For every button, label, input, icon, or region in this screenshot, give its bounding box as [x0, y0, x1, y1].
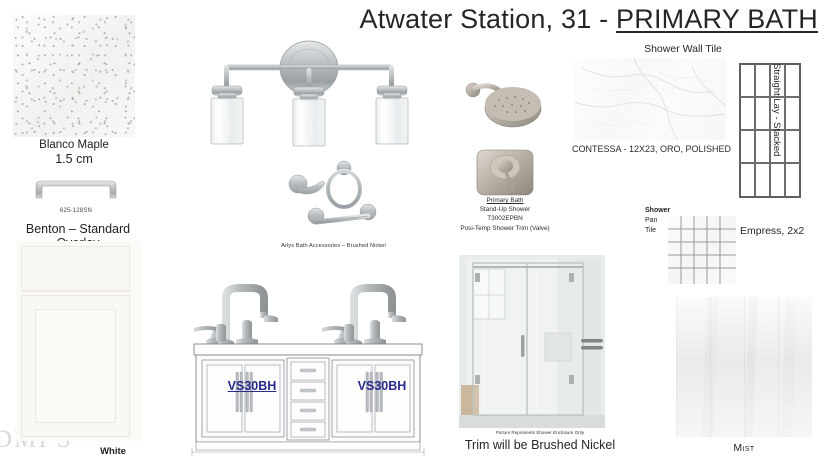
shower-wall-tile-name: CONTESSA - 12X23, ORO, POLISHED [572, 143, 732, 155]
page-title: Atwater Station, 31 - PRIMARY BATH [340, 4, 818, 35]
cabinet-door-sample [16, 241, 141, 441]
tile-layout-label: Straight Lay - Stacked [766, 63, 782, 198]
shower-trim-location: Stand-Up Shower [430, 205, 580, 214]
page-title-room: PRIMARY BATH [616, 4, 818, 34]
vanity-light-3-bulb-icon [196, 36, 422, 148]
shower-wall-tile-swatch [574, 58, 726, 140]
shower-trim-desc: Posi-Temp Shower Trim (Valve) [430, 224, 580, 233]
shower-trim-finish-note: Trim will be Brushed Nickel [440, 438, 640, 452]
cabinet-color-label: White [78, 446, 148, 457]
shower-pan-tile-label-1: Shower [645, 207, 670, 214]
bath-accessories-icon [278, 156, 388, 236]
countertop-swatch [13, 15, 135, 137]
shower-pan-tile-name: Empress, 2x2 [740, 225, 825, 237]
flooring-swatch [676, 297, 812, 437]
shower-trim-model: T3002EPBN [430, 214, 580, 223]
cabinet-pull-sku: 625-128SN [26, 208, 126, 214]
double-vanity-elevation-icon: VS30BH VS30BH [190, 262, 426, 458]
shower-enclosure-photo [459, 255, 605, 428]
cabinet-door-front [21, 295, 130, 437]
cabinet-pull-icon [26, 172, 126, 204]
countertop-name: Blanco Maple [13, 139, 135, 151]
vanity-left-unit-label[interactable]: VS30BH [217, 379, 287, 393]
shower-trim-room: Primary Bath [430, 196, 580, 205]
shower-enclosure-caption: Picture Represents Shower Enclosure Only [470, 430, 610, 435]
shower-head-trim-icon [455, 62, 555, 197]
vanity-right-unit-label[interactable]: VS30BH [347, 379, 417, 393]
shower-wall-tile-title: Shower Wall Tile [598, 43, 768, 55]
page-title-project: Atwater Station, 31 - [360, 4, 617, 34]
countertop-thickness: 1.5 cm [13, 152, 135, 166]
bath-accessories-label: Arlys Bath Accessories – Brushed Nickel [266, 243, 401, 249]
cabinet-drawer-front [21, 246, 130, 292]
flooring-name: Mist [676, 442, 812, 454]
shower-pan-tile-swatch [668, 216, 736, 284]
shower-trim-spec: Primary Bath Stand-Up Shower T3002EPBN P… [430, 196, 580, 233]
